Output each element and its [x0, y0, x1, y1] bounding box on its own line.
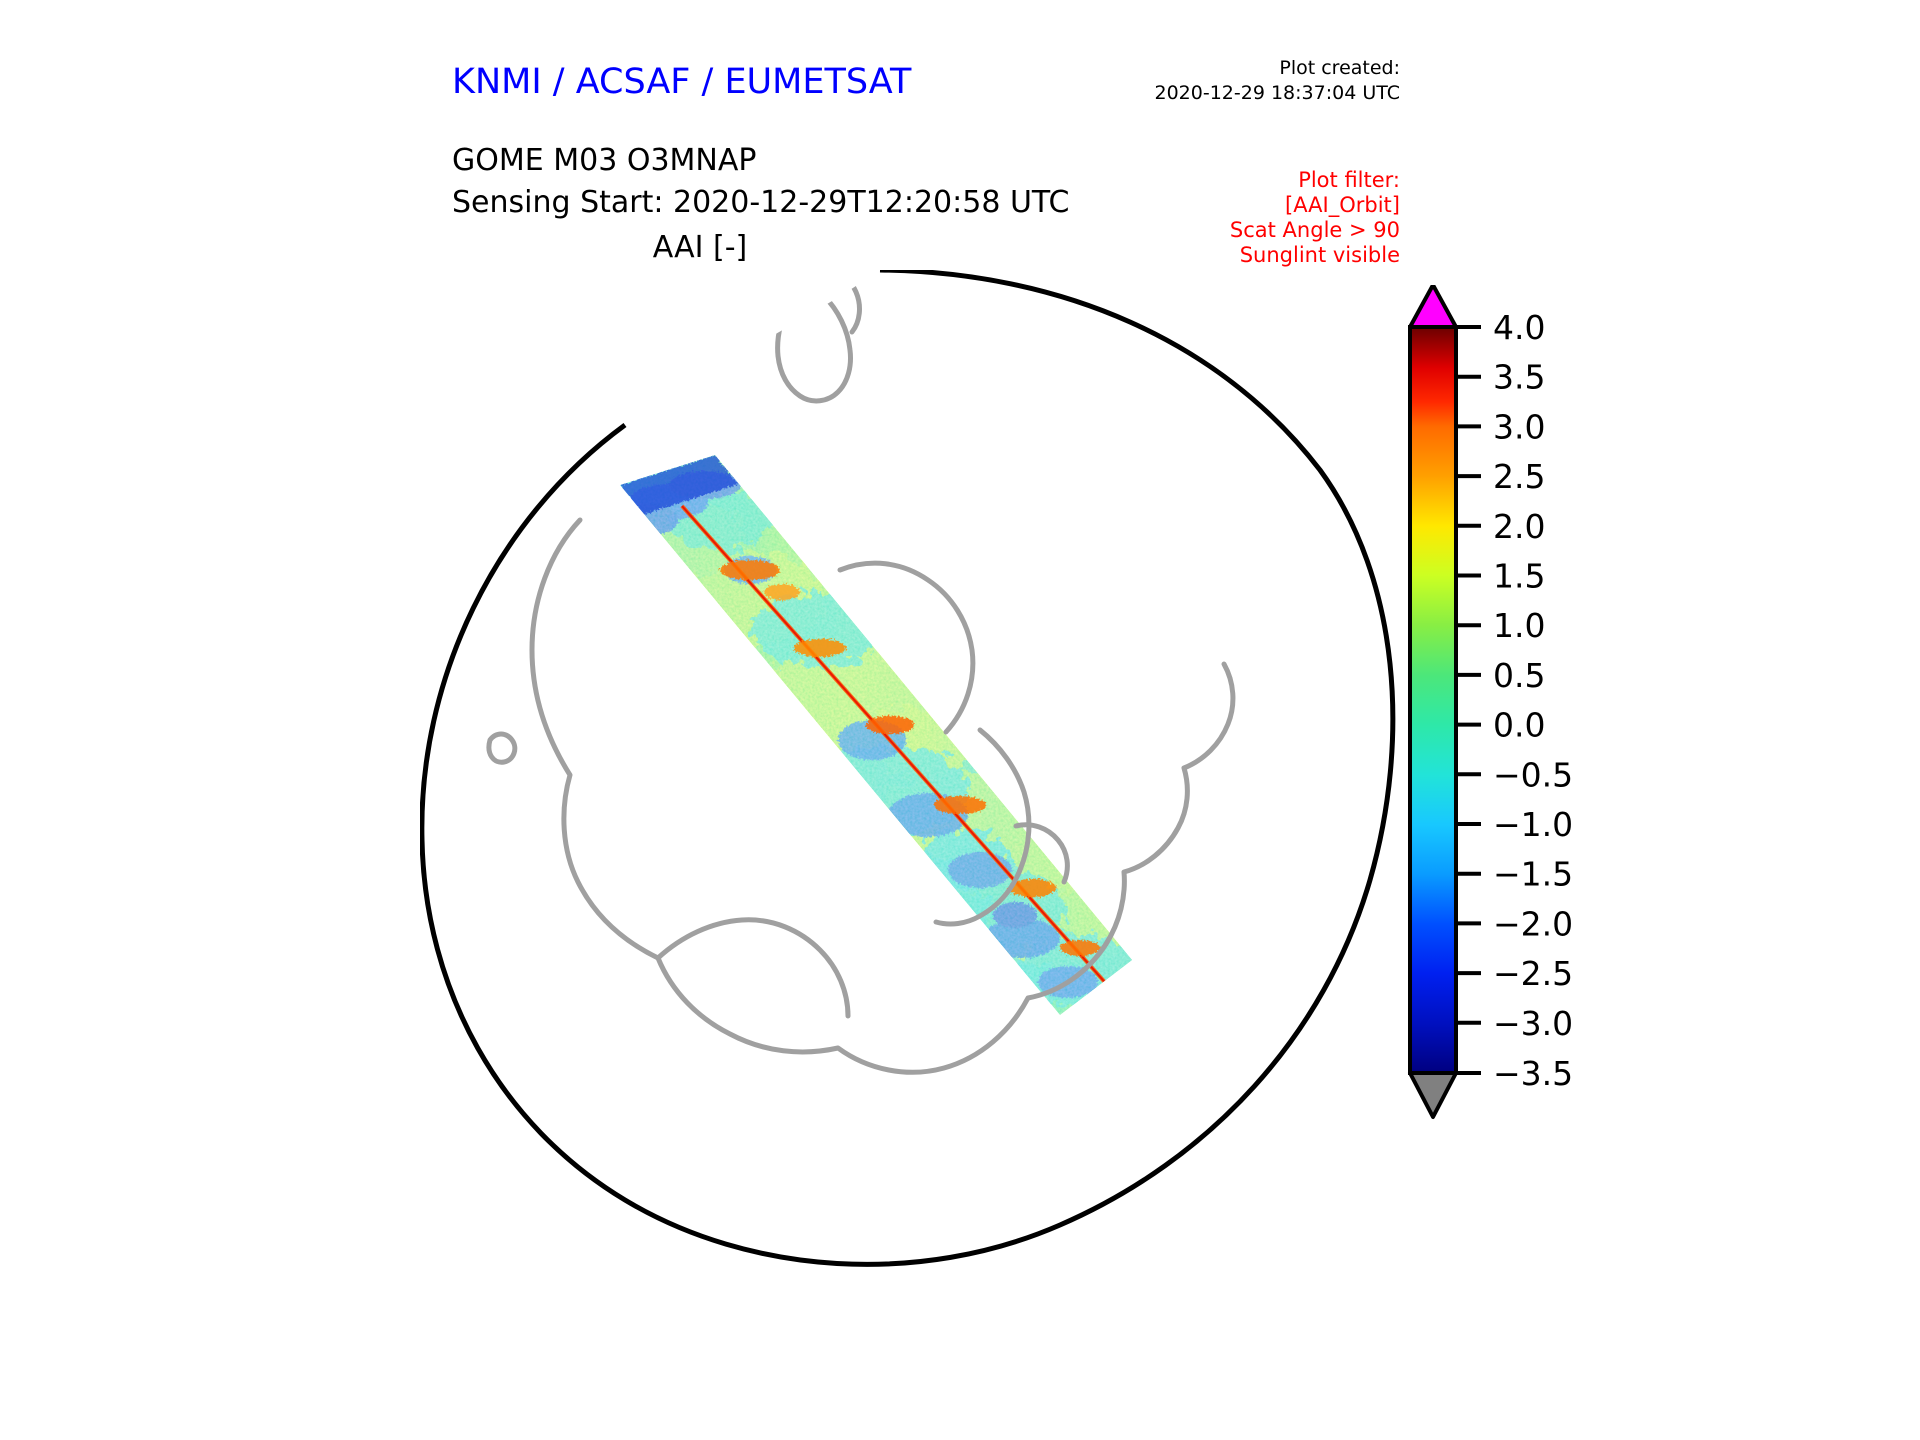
plot-created-block: Plot created: 2020-12-29 18:37:04 UTC [1110, 56, 1400, 106]
colorbar-tick-label: −3.0 [1493, 1004, 1573, 1043]
plot-created-timestamp: 2020-12-29 18:37:04 UTC [1110, 81, 1400, 106]
plot-filter-product: [AAI_Orbit] [1100, 193, 1400, 218]
colorbar-under-arrow [1410, 1073, 1456, 1117]
plot-filter-scat-angle: Scat Angle > 90 [1100, 218, 1400, 243]
colorbar-tick-label: −3.5 [1493, 1054, 1573, 1093]
colorbar-tick-label: 4.0 [1493, 308, 1545, 347]
colorbar-tick-label: −1.5 [1493, 855, 1573, 894]
colorbar-tick-label: 1.0 [1493, 606, 1545, 645]
product-info-block: GOME M03 O3MNAP Sensing Start: 2020-12-2… [452, 140, 1069, 224]
colorbar-gradient-bar [1410, 327, 1456, 1073]
colorbar-tick-label: 2.0 [1493, 507, 1545, 546]
colorbar-tick-label: 3.5 [1493, 358, 1545, 397]
colorbar-tick-label: −2.5 [1493, 954, 1573, 993]
colorbar-tick-label: 2.5 [1493, 457, 1545, 496]
map-svg [420, 270, 1400, 1300]
colorbar-tick-label: 0.0 [1493, 706, 1545, 745]
colorbar-tick-label: −1.0 [1493, 805, 1573, 844]
plot-filter-label: Plot filter: [1100, 168, 1400, 193]
map-panel [420, 270, 1400, 1300]
colorbar-svg: 4.0 3.5 3.0 2.5 2.0 1.5 1.0 0.5 0.0 −0.5… [1395, 285, 1695, 1300]
colorbar-tick-label: 0.5 [1493, 656, 1545, 695]
colorbar-ticks [1456, 327, 1481, 1073]
colorbar-tick-label: 3.0 [1493, 407, 1545, 446]
colorbar-tick-label: −2.0 [1493, 904, 1573, 943]
sensing-start: Sensing Start: 2020-12-29T12:20:58 UTC [452, 182, 1069, 224]
plot-created-label: Plot created: [1110, 56, 1400, 81]
colorbar-panel: 4.0 3.5 3.0 2.5 2.0 1.5 1.0 0.5 0.0 −0.5… [1395, 285, 1695, 1300]
colorbar-tick-label: 1.5 [1493, 557, 1545, 596]
plot-filter-sunglint: Sunglint visible [1100, 243, 1400, 268]
colorbar-tick-label: −0.5 [1493, 755, 1573, 794]
plot-filter-block: Plot filter: [AAI_Orbit] Scat Angle > 90… [1100, 168, 1400, 268]
product-name: GOME M03 O3MNAP [452, 140, 1069, 182]
colorbar-over-arrow [1410, 285, 1456, 327]
organisation-title: KNMI / ACSAF / EUMETSAT [452, 62, 911, 102]
colorbar-tick-labels: 4.0 3.5 3.0 2.5 2.0 1.5 1.0 0.5 0.0 −0.5… [1493, 308, 1573, 1093]
plot-page: KNMI / ACSAF / EUMETSAT Plot created: 20… [0, 0, 1920, 1440]
